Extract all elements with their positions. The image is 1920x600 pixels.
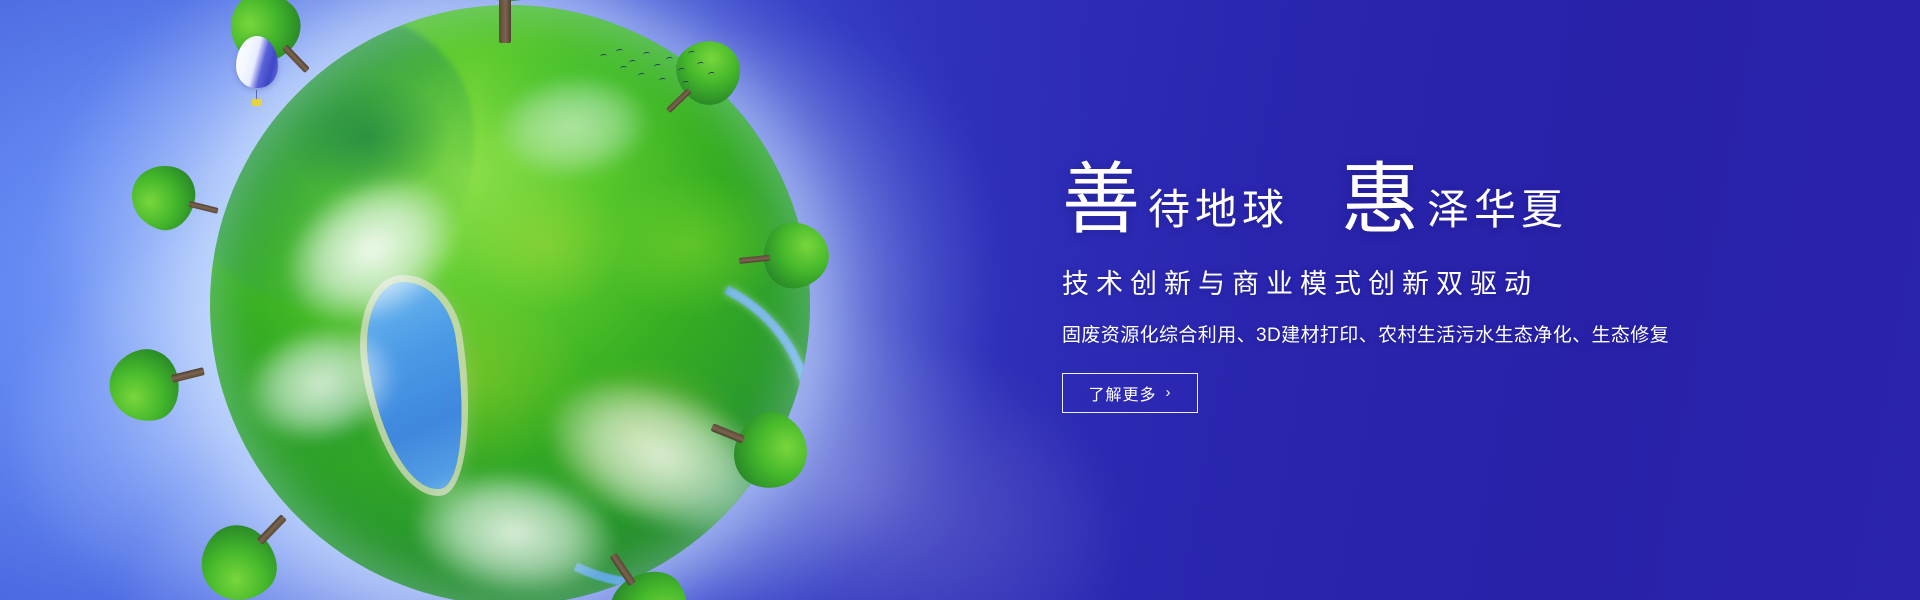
headline-lead-2: 惠 bbox=[1341, 164, 1419, 236]
balloon-envelope bbox=[236, 36, 278, 88]
tree-trunk bbox=[711, 423, 745, 443]
chevron-right-icon: › bbox=[1166, 385, 1172, 400]
hero-content: 善 待地球 惠 泽华夏 技术创新与商业模式创新双驱动 固废资源化综合利用、3D建… bbox=[1062, 140, 1702, 413]
hero-banner: 善 待地球 惠 泽华夏 技术创新与商业模式创新双驱动 固废资源化综合利用、3D建… bbox=[0, 0, 1920, 600]
tree-trunk bbox=[282, 45, 310, 73]
balloon-rope bbox=[256, 90, 257, 99]
tree-trunk bbox=[610, 553, 636, 587]
balloon-basket bbox=[252, 99, 262, 106]
tree-trunk bbox=[171, 368, 204, 383]
learn-more-button[interactable]: 了解更多 › bbox=[1062, 373, 1198, 413]
tree-trunk bbox=[257, 514, 287, 544]
subtitle: 技术创新与商业模式创新双驱动 bbox=[1062, 262, 1702, 301]
headline: 善 待地球 惠 泽华夏 bbox=[1062, 140, 1702, 236]
headline-lead-1: 善 bbox=[1062, 164, 1140, 236]
tagline: 固废资源化综合利用、3D建材打印、农村生活污水生态净化、生态修复 bbox=[1062, 320, 1702, 347]
bird-flock-icon bbox=[596, 48, 726, 94]
headline-rest-2: 泽华夏 bbox=[1419, 190, 1568, 236]
hot-air-balloon-icon bbox=[236, 36, 278, 106]
headline-rest-1: 待地球 bbox=[1140, 190, 1289, 236]
tree-trunk bbox=[499, 0, 511, 43]
tree bbox=[446, 0, 564, 43]
tree bbox=[736, 219, 832, 294]
tree-crown bbox=[761, 219, 832, 291]
tree-trunk bbox=[188, 201, 219, 214]
learn-more-label: 了解更多 bbox=[1088, 381, 1156, 405]
